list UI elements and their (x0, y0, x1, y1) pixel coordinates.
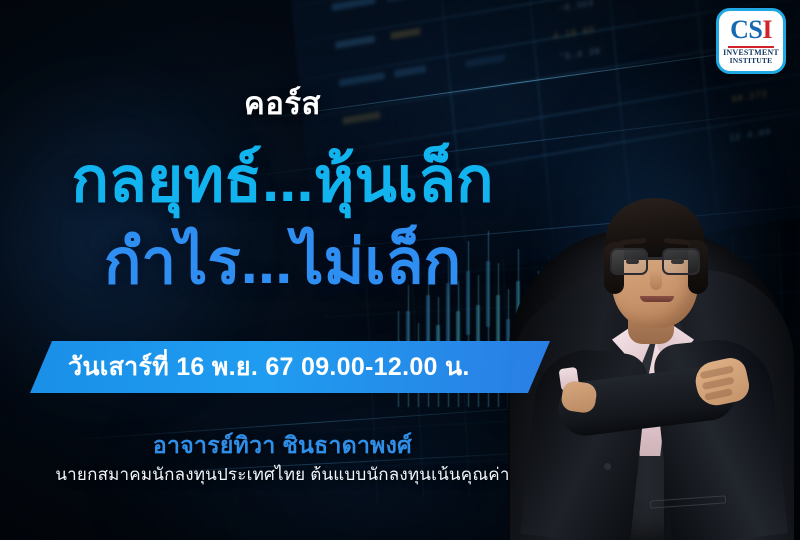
headline-line-2: กำไร...ไม่เล็ก (0, 232, 565, 294)
logo-subtitle-institute: INSTITUTE (730, 57, 773, 65)
date-time-text: วันเสาร์ที่ 16 พ.ย. 67 09.00-12.00 น. (30, 347, 470, 387)
csi-logo: CSI INVESTMENT INSTITUTE (716, 8, 786, 74)
speaker-role: นายกสมาคมนักลงทุนประเทศไทย ต้นแบบนักลงทุ… (0, 461, 565, 488)
headline-line-1: กลยุทธ์...หุ้นเล็ก (0, 150, 565, 212)
course-kicker-label: คอร์ส (0, 78, 565, 128)
speaker-name: อาจารย์ทิวา ชินธาดาพงศ์ (0, 428, 565, 464)
logo-wordmark-i: I (762, 15, 772, 44)
poster-text-content: คอร์ส กลยุทธ์...หุ้นเล็ก กำไร...ไม่เล็ก … (0, 0, 565, 540)
logo-wordmark: CSI (730, 17, 772, 43)
course-promo-poster: 31.346 13'259 -0.369 4.10 09 '5.4 38 304… (0, 0, 800, 540)
date-time-banner: วันเสาร์ที่ 16 พ.ย. 67 09.00-12.00 น. (30, 341, 550, 393)
logo-wordmark-cs: CS (730, 15, 762, 44)
